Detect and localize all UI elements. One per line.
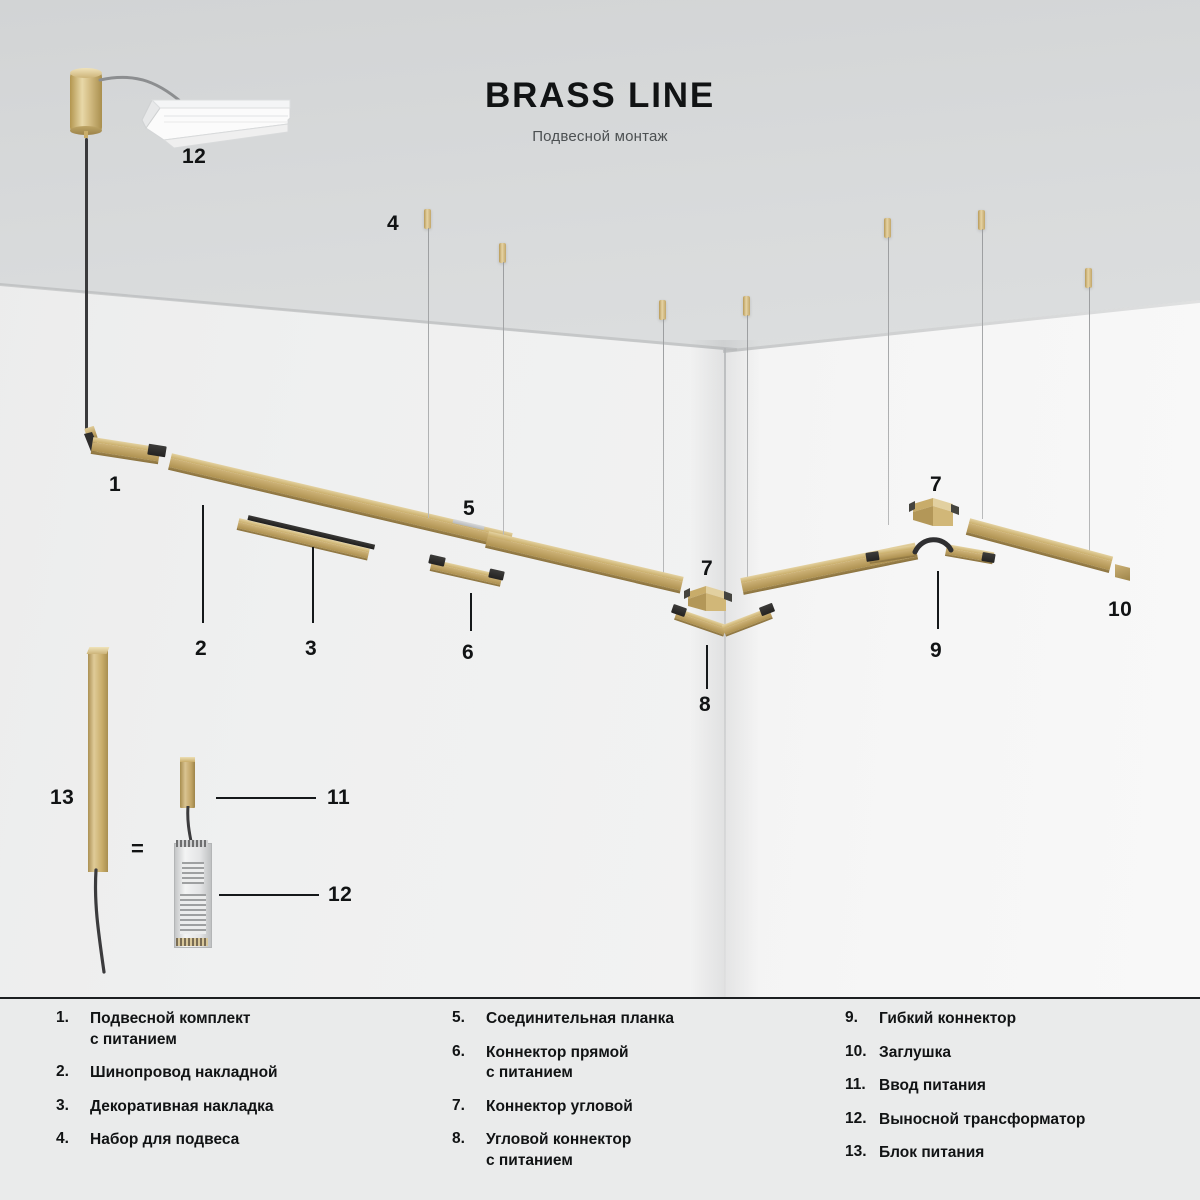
callout-2: 2 xyxy=(195,637,207,661)
legend-item-label: Выносной трансформатор xyxy=(879,1110,1085,1131)
legend-item-label: Блок питания xyxy=(879,1143,984,1164)
legend-item-number: 10. xyxy=(845,1043,879,1061)
callout-10: 10 xyxy=(1108,598,1132,622)
ceiling-mount-nub xyxy=(499,243,506,263)
legend-item-number: 5. xyxy=(452,1009,486,1027)
leader-line-8 xyxy=(706,645,708,689)
legend-item: 6. Коннектор прямой с питанием xyxy=(452,1043,812,1084)
suspension-wire xyxy=(982,229,983,519)
callout-11: 11 xyxy=(327,786,350,810)
ceiling-mount-nub xyxy=(424,209,431,229)
legend-item-number: 3. xyxy=(56,1097,90,1115)
legend-item-label: Набор для подвеса xyxy=(90,1130,239,1151)
callout-8: 8 xyxy=(699,693,711,717)
callout-9: 9 xyxy=(930,639,942,663)
suspension-wire xyxy=(1089,287,1090,551)
leader-line-12 xyxy=(219,894,319,896)
part-12-terminal-strip-top xyxy=(176,840,208,847)
legend-item-label: Ввод питания xyxy=(879,1076,986,1097)
callout-6: 6 xyxy=(462,641,474,665)
legend-item: 11. Ввод питания xyxy=(845,1076,1195,1097)
legend-item-number: 13. xyxy=(845,1143,879,1161)
ceiling-mount-nub xyxy=(659,300,666,320)
legend-panel: 1. Подвесной комплект с питанием 2. Шино… xyxy=(0,999,1200,1200)
legend-item-number: 9. xyxy=(845,1009,879,1027)
legend-item-label: Угловой коннектор с питанием xyxy=(486,1130,631,1171)
legend-item-label: Коннектор прямой с питанием xyxy=(486,1043,629,1084)
legend-item-label: Шинопровод накладной xyxy=(90,1063,278,1084)
equals-sign: = xyxy=(131,836,144,862)
legend-item: 1. Подвесной комплект с питанием xyxy=(56,1009,416,1050)
part-13-bar-top xyxy=(87,647,110,654)
flexible-cable-icon xyxy=(912,532,954,558)
legend-item: 7. Коннектор угловой xyxy=(452,1097,812,1118)
legend-item: 5. Соединительная планка xyxy=(452,1009,812,1030)
legend-item-number: 6. xyxy=(452,1043,486,1061)
legend-item: 9. Гибкий коннектор xyxy=(845,1009,1195,1030)
callout-3: 3 xyxy=(305,637,317,661)
legend-item: 8. Угловой коннектор с питанием xyxy=(452,1130,812,1171)
leader-line-3 xyxy=(312,547,314,623)
suspension-wire xyxy=(663,319,664,589)
legend-item: 2. Шинопровод накладной xyxy=(56,1063,416,1084)
legend-item-number: 12. xyxy=(845,1110,879,1128)
cylinder-cable-gland xyxy=(84,131,88,138)
callout-4: 4 xyxy=(387,212,399,236)
legend-item: 10. Заглушка xyxy=(845,1043,1195,1064)
ceiling-drop-cable xyxy=(85,138,88,430)
legend-item: 12. Выносной трансформатор xyxy=(845,1110,1195,1131)
legend-item-number: 4. xyxy=(56,1130,90,1148)
ceiling-mount-nub xyxy=(978,210,985,230)
legend-item-label: Декоративная накладка xyxy=(90,1097,274,1118)
ceiling-mount-nub xyxy=(884,218,891,238)
callout-12-top: 12 xyxy=(182,145,206,169)
corner-shading xyxy=(690,340,760,998)
white-profile-icon xyxy=(138,68,298,156)
legend-item-number: 2. xyxy=(56,1063,90,1081)
legend-item-number: 11. xyxy=(845,1076,879,1094)
legend-item-label: Заглушка xyxy=(879,1043,951,1064)
part-12-vent-lower xyxy=(180,894,206,934)
legend-item-number: 8. xyxy=(452,1130,486,1148)
brass-line-diagram-page: 12 1 2 3 xyxy=(0,0,1200,1200)
legend-item-label: Гибкий коннектор xyxy=(879,1009,1016,1030)
leader-line-9 xyxy=(937,571,939,629)
room-scene: 12 1 2 3 xyxy=(0,0,1200,998)
part-11-body xyxy=(180,760,195,808)
leader-line-11 xyxy=(216,797,316,799)
callout-13: 13 xyxy=(50,786,74,810)
legend-item: 13. Блок питания xyxy=(845,1143,1195,1164)
part-13-cable-icon xyxy=(84,868,120,978)
part-12-vent-upper xyxy=(182,862,204,884)
ceiling-mount-nub xyxy=(743,296,750,316)
suspension-wire xyxy=(888,237,889,525)
callout-12-bottom: 12 xyxy=(328,883,352,907)
legend-column-1: 1. Подвесной комплект с питанием 2. Шино… xyxy=(56,1009,416,1164)
legend-item-number: 7. xyxy=(452,1097,486,1115)
legend-item: 4. Набор для подвеса xyxy=(56,1130,416,1151)
suspension-wire xyxy=(747,315,748,578)
part-11-top xyxy=(180,757,195,762)
legend-item-label: Соединительная планка xyxy=(486,1009,674,1030)
legend-item-number: 1. xyxy=(56,1009,90,1027)
suspension-wire xyxy=(428,228,429,518)
suspension-wire xyxy=(503,262,504,542)
ceiling-mount-nub xyxy=(1085,268,1092,288)
legend-item: 3. Декоративная накладка xyxy=(56,1097,416,1118)
leader-line-2 xyxy=(202,505,204,623)
callout-7-left: 7 xyxy=(701,557,713,581)
legend-column-2: 5. Соединительная планка 6. Коннектор пр… xyxy=(452,1009,812,1185)
legend-item-label: Подвесной комплект с питанием xyxy=(90,1009,251,1050)
callout-7-upper: 7 xyxy=(930,473,942,497)
part-13-bar xyxy=(88,650,108,872)
callout-5: 5 xyxy=(463,497,475,521)
leader-line-6 xyxy=(470,593,472,631)
part-12-terminal-strip-bottom xyxy=(176,938,208,946)
legend-column-3: 9. Гибкий коннектор 10. Заглушка 11. Вво… xyxy=(845,1009,1195,1177)
legend-item-label: Коннектор угловой xyxy=(486,1097,633,1118)
callout-1: 1 xyxy=(109,473,121,497)
